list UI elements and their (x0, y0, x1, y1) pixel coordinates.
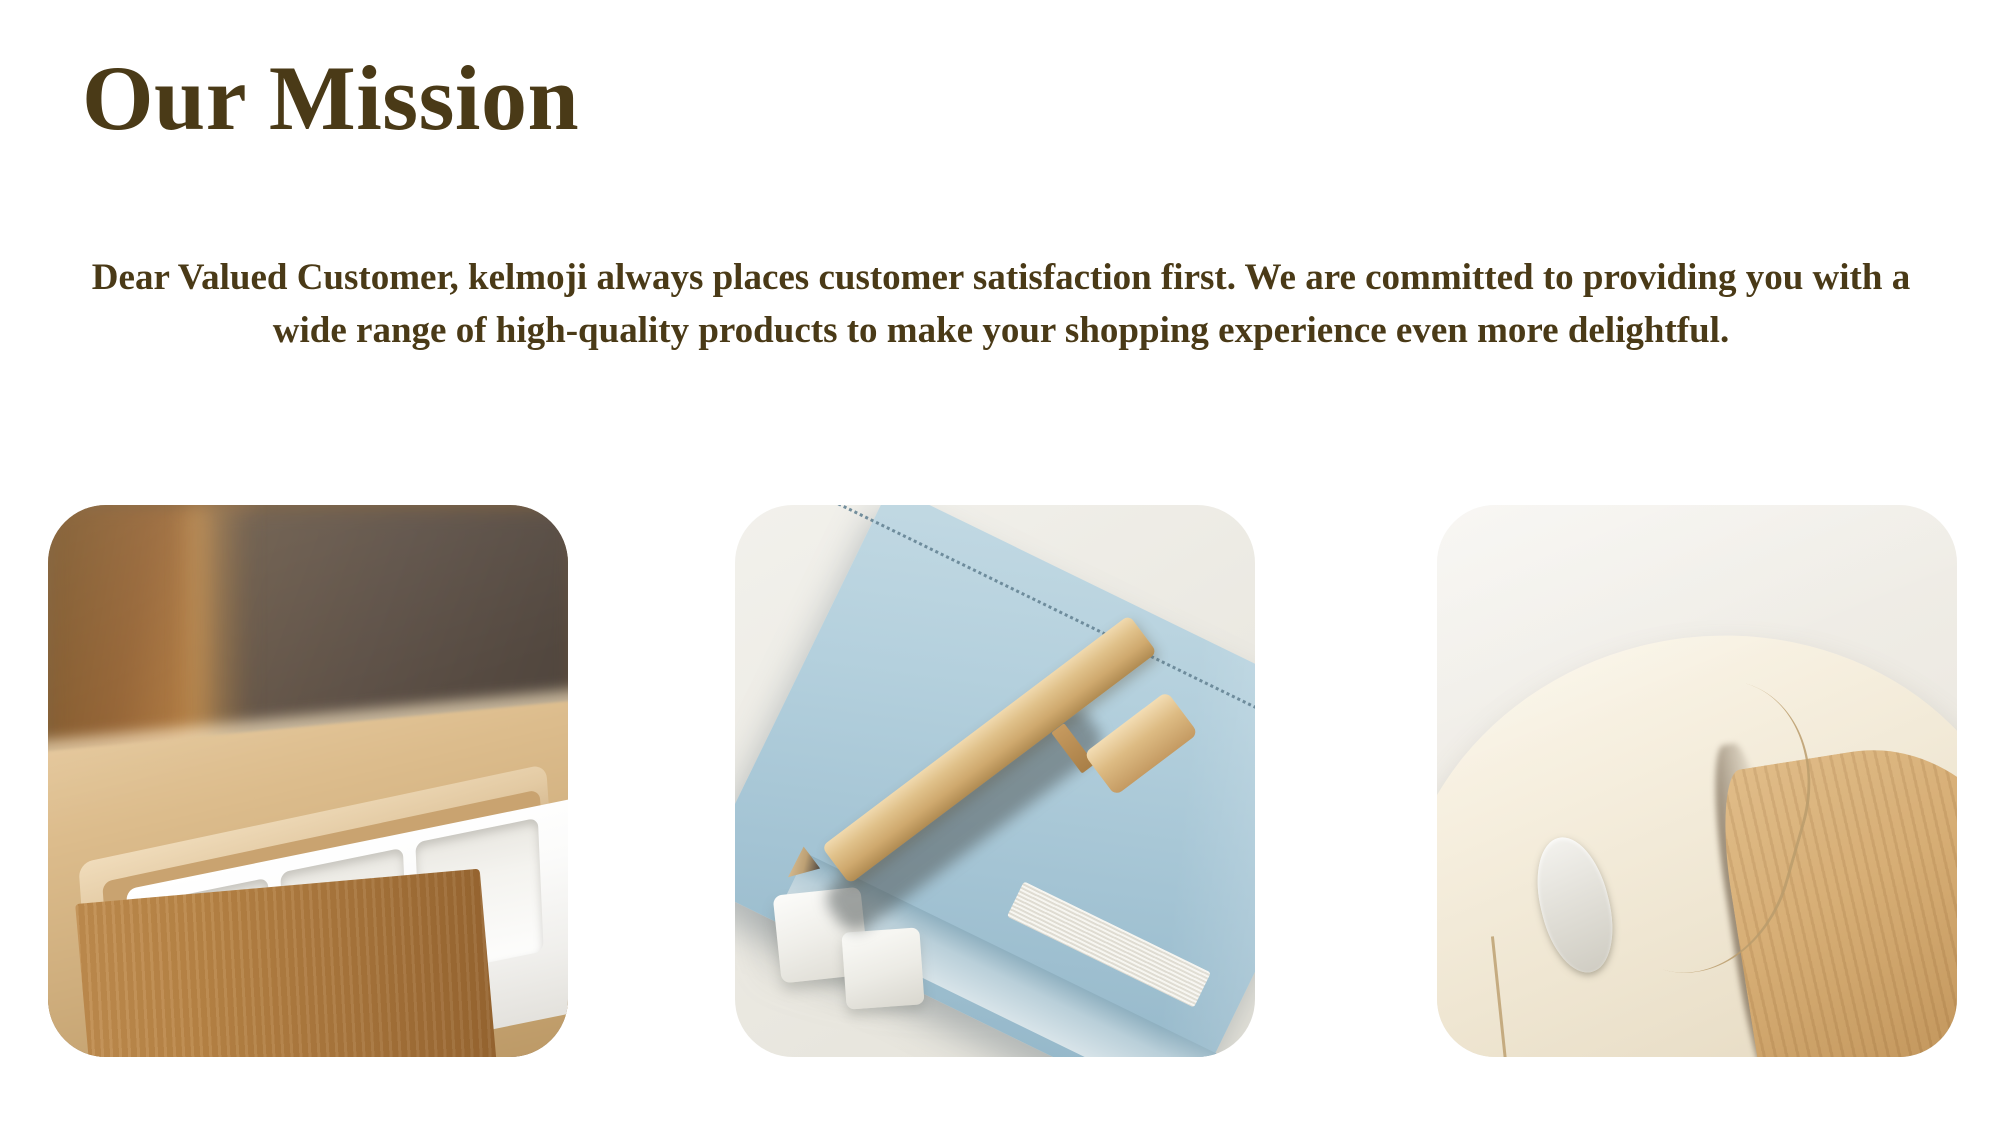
mission-statement-text: Dear Valued Customer, kelmoji always pla… (82, 252, 1920, 357)
gallery-image-cream-wood-wireless-mouse[interactable] (1437, 505, 1957, 1057)
mission-page: Our Mission Dear Valued Customer, kelmoj… (0, 0, 2000, 1125)
gallery-image-wooden-desk-organizer[interactable] (48, 505, 568, 1057)
page-title: Our Mission (82, 52, 579, 146)
blue-leather-notebook-illustration (735, 505, 1255, 1057)
product-image-gallery (0, 505, 2000, 1065)
gallery-image-blue-leather-notebook-with-pencil[interactable] (735, 505, 1255, 1057)
wooden-desk-organizer-illustration (48, 505, 568, 1057)
cream-wood-mouse-illustration (1437, 505, 1957, 1057)
